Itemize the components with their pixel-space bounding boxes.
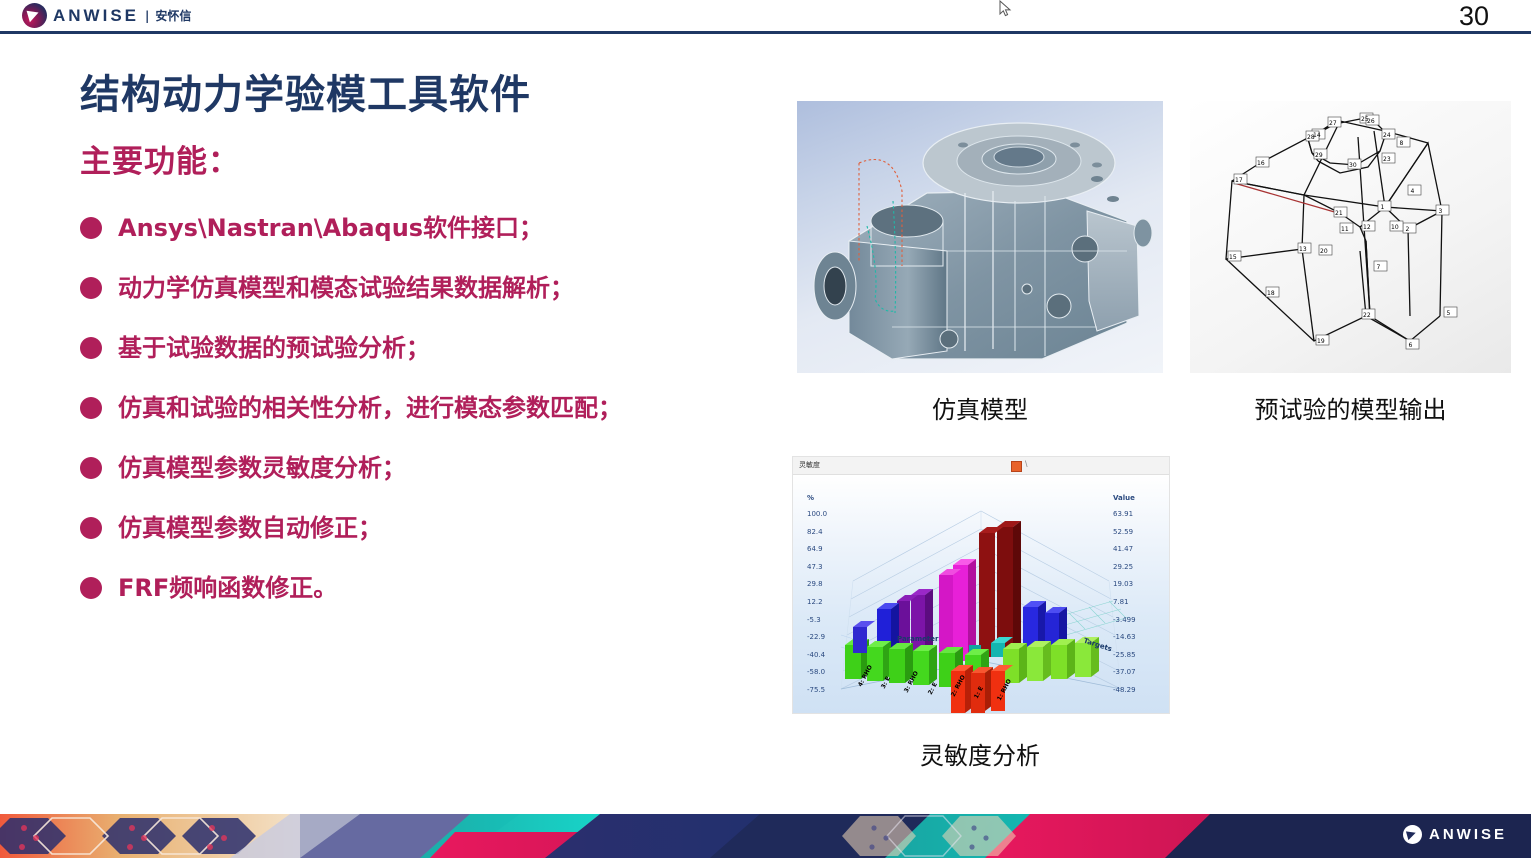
cad-gearbox-drawing <box>797 101 1163 373</box>
list-item-label: Ansys\Nastran\Abaqus软件接口； <box>118 210 543 246</box>
svg-text:3: 3 <box>1439 208 1443 215</box>
svg-text:19: 19 <box>1317 338 1325 345</box>
anwise-logo-icon <box>22 3 47 28</box>
svg-text:7: 7 <box>1377 264 1381 271</box>
list-item: FRF频响函数修正。 <box>80 570 795 630</box>
bullet-dot-icon <box>80 577 102 599</box>
svg-text:10: 10 <box>1391 224 1399 231</box>
brand-separator: | <box>145 9 149 23</box>
brand-name-latin: ANWISE <box>53 3 139 28</box>
svg-text:5: 5 <box>1447 310 1451 317</box>
bullet-dot-icon <box>80 517 102 539</box>
svg-text:29: 29 <box>1315 152 1323 159</box>
svg-text:26: 26 <box>1367 118 1375 125</box>
svg-text:28: 28 <box>1307 134 1315 141</box>
svg-text:15: 15 <box>1229 254 1237 261</box>
wireframe-node-drawing: 12 34 56 78 1011 1213 1415 1617 1819 202… <box>1190 101 1511 373</box>
figure-cad-model <box>797 101 1163 373</box>
brand-logo: ANWISE | 安怀信 <box>22 3 191 28</box>
list-item: 仿真和试验的相关性分析，进行模态参数匹配； <box>80 390 795 450</box>
svg-text:30: 30 <box>1349 162 1357 169</box>
figure-wireframe-model: 12 34 56 78 1011 1213 1415 1617 1819 202… <box>1190 101 1511 373</box>
record-icon[interactable] <box>1011 461 1022 472</box>
list-item: 仿真模型参数自动修正； <box>80 510 795 570</box>
page-number: 30 <box>1459 0 1489 32</box>
list-item-label: 仿真和试验的相关性分析，进行模态参数匹配； <box>118 390 622 426</box>
figure-cad-caption: 仿真模型 <box>797 390 1163 425</box>
svg-text:12: 12 <box>1363 224 1371 231</box>
slide-footer: ANWISE <box>0 814 1531 858</box>
figure-wireframe-caption: 预试验的模型输出 <box>1190 390 1511 425</box>
svg-text:1: 1 <box>1381 204 1385 211</box>
list-item: 动力学仿真模型和模态试验结果数据解析； <box>80 270 795 330</box>
list-item-label: 仿真模型参数灵敏度分析； <box>118 450 406 486</box>
svg-text:22: 22 <box>1363 312 1371 319</box>
svg-text:18: 18 <box>1267 290 1275 297</box>
slide-body-left: 结构动力学验模工具软件 主要功能： Ansys\Nastran\Abaqus软件… <box>0 34 800 804</box>
slide-header: ANWISE | 安怀信 30 <box>0 0 1531 32</box>
mouse-pointer-icon <box>999 0 1013 18</box>
chart-plot-area: % 100.0 82.4 64.9 47.3 29.8 12.2 -5.3 -2… <box>793 475 1169 713</box>
chart-window-titlebar: 灵敏度 \ <box>793 457 1169 475</box>
anwise-logo-icon <box>1403 825 1422 844</box>
list-item: Ansys\Nastran\Abaqus软件接口； <box>80 210 795 270</box>
svg-text:23: 23 <box>1383 156 1391 163</box>
bullet-dot-icon <box>80 337 102 359</box>
chart-bars <box>793 475 1169 713</box>
bullet-dot-icon <box>80 397 102 419</box>
svg-text:11: 11 <box>1341 226 1349 233</box>
svg-text:13: 13 <box>1299 246 1307 253</box>
brand-name-cn: 安怀信 <box>155 7 191 24</box>
svg-text:16: 16 <box>1257 160 1265 167</box>
list-item-label: 仿真模型参数自动修正； <box>118 510 382 546</box>
figure-sensitivity-chart: 灵敏度 \ <box>792 456 1170 714</box>
bullet-dot-icon <box>80 457 102 479</box>
list-item-label: FRF频响函数修正。 <box>118 570 337 606</box>
list-item: 基于试验数据的预试验分析； <box>80 330 795 390</box>
footer-brand-name: ANWISE <box>1429 826 1507 843</box>
list-item-label: 基于试验数据的预试验分析； <box>118 330 430 366</box>
figure-sensitivity-caption: 灵敏度分析 <box>792 736 1168 771</box>
svg-text:4: 4 <box>1411 188 1415 195</box>
section-subtitle: 主要功能： <box>80 136 240 181</box>
svg-text:21: 21 <box>1335 210 1343 217</box>
bullet-dot-icon <box>80 277 102 299</box>
svg-text:8: 8 <box>1400 140 1404 147</box>
chart-window-title: 灵敏度 <box>799 460 820 470</box>
feature-list: Ansys\Nastran\Abaqus软件接口； 动力学仿真模型和模态试验结果… <box>80 210 795 630</box>
toolbar-divider: \ <box>1025 459 1028 469</box>
svg-text:27: 27 <box>1329 120 1337 127</box>
footer-brand-logo: ANWISE <box>1403 825 1507 844</box>
list-item: 仿真模型参数灵敏度分析； <box>80 450 795 510</box>
svg-text:17: 17 <box>1235 177 1243 184</box>
svg-text:2: 2 <box>1406 226 1410 233</box>
page-title: 结构动力学验模工具软件 <box>80 62 531 120</box>
footer-pattern-graphic <box>0 814 1531 858</box>
list-item-label: 动力学仿真模型和模态试验结果数据解析； <box>118 270 574 306</box>
svg-text:20: 20 <box>1320 248 1328 255</box>
bullet-dot-icon <box>80 217 102 239</box>
svg-text:24: 24 <box>1383 132 1391 139</box>
svg-text:6: 6 <box>1409 342 1413 349</box>
